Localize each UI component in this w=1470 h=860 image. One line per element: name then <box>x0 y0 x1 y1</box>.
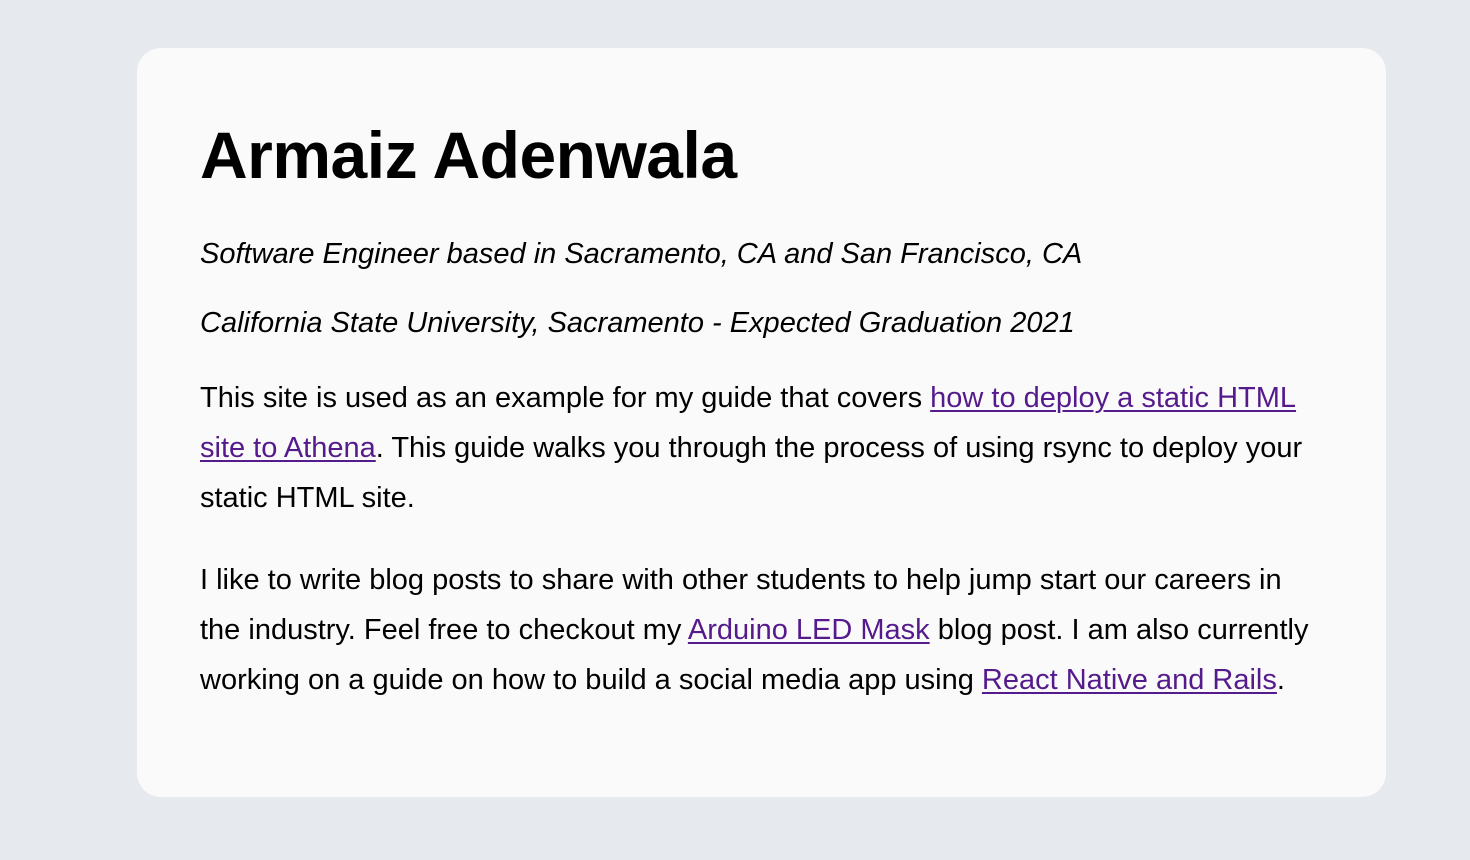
blog-text-after-second-link: . <box>1277 664 1285 696</box>
link-react-native-and-rails[interactable]: React Native and Rails <box>982 664 1277 696</box>
intro-text-before-link: This site is used as an example for my g… <box>200 382 930 414</box>
tagline-education: California State University, Sacramento … <box>200 298 1324 348</box>
link-arduino-led-mask[interactable]: Arduino LED Mask <box>688 614 930 646</box>
profile-card: Armaiz Adenwala Software Engineer based … <box>137 48 1386 797</box>
tagline-location: Software Engineer based in Sacramento, C… <box>200 229 1324 279</box>
intro-paragraph: This site is used as an example for my g… <box>200 373 1324 523</box>
page-background: Armaiz Adenwala Software Engineer based … <box>0 0 1470 860</box>
page-title: Armaiz Adenwala <box>200 118 1324 188</box>
blog-paragraph: I like to write blog posts to share with… <box>200 555 1324 705</box>
